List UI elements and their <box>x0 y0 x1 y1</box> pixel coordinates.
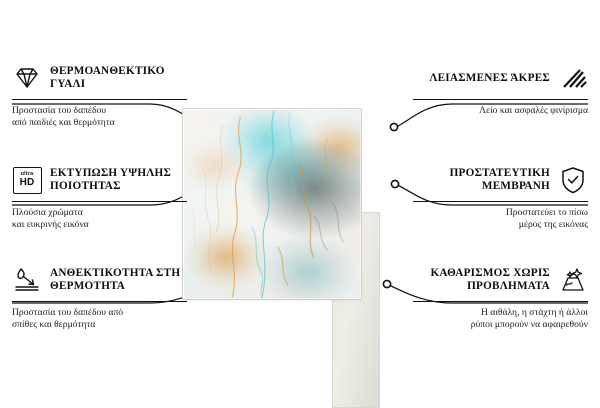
feature-infographic: ΘΕΡΜΟΑΝΘΕΚΤΙΚΟ ΓΥΑΛΙ Προστασία του δαπέδ… <box>0 0 600 400</box>
feature-description: Προστατεύει το πίσωμέρος της εικόνας <box>413 207 588 230</box>
feature-description: Πλούσια χρώματακαι ευκρινής εικόνα <box>12 207 187 230</box>
feature-header: ΑΝΘΕΚΤΙΚΟΤΗΤΑ ΣΤΗ ΘΕΡΜΟΤΗΤΑ <box>12 264 187 296</box>
ultra-hd-badge-bottom: HD <box>20 178 35 188</box>
glass-panel <box>182 108 362 300</box>
marble-veins <box>183 109 361 299</box>
diamond-icon <box>12 63 42 93</box>
sparkle-cloth-icon <box>558 265 588 295</box>
product-image <box>182 108 362 300</box>
connector-dot-right-2 <box>391 180 398 187</box>
connector-dot-right-1 <box>390 123 397 130</box>
feature-description: Η αιθάλη, η στάχτη ή άλλοιρύποι μπορούν … <box>413 307 588 330</box>
feature-divider <box>12 99 187 100</box>
feature-title: ΕΚΤΥΠΩΣΗ ΥΨΗΛΗΣ ΠΟΙΟΤΗΤΑΣ <box>50 167 187 192</box>
feature-description: Προστασία του δαπέδου απόσπίθες και θερμ… <box>12 307 187 330</box>
feature-title: ΑΝΘΕΚΤΙΚΟΤΗΤΑ ΣΤΗ ΘΕΡΜΟΤΗΤΑ <box>50 267 187 292</box>
feature-header: ΛΕΙΑΣΜΕΝΕΣ ΆΚΡΕΣ <box>413 62 588 94</box>
feature-title: ΛΕΙΑΣΜΕΝΕΣ ΆΚΡΕΣ <box>429 72 550 85</box>
feature-polished-edges: ΛΕΙΑΣΜΕΝΕΣ ΆΚΡΕΣ Λείο και ασφαλές φινίρι… <box>413 62 588 117</box>
feature-divider <box>413 301 588 302</box>
feature-divider <box>12 301 187 302</box>
feature-title: ΘΕΡΜΟΑΝΘΕΚΤΙΚΟ ΓΥΑΛΙ <box>50 65 187 90</box>
feature-protective-film: ΠΡΟΣΤΑΤΕΥΤΙΚΗ ΜΕΜΒΡΑΝΗ Προστατεύει το πί… <box>413 164 588 231</box>
feature-header: ΠΡΟΣΤΑΤΕΥΤΙΚΗ ΜΕΜΒΡΑΝΗ <box>413 164 588 196</box>
ultra-hd-badge-icon: ultra HD <box>12 165 42 195</box>
feature-easy-cleaning: ΚΑΘΑΡΙΣΜΟΣ ΧΩΡΙΣ ΠΡΟΒΛΗΜΑΤΑ Η αιθάλη, η … <box>413 264 588 331</box>
feature-description: Προστασία του δαπέδουαπό παιδιές και θερ… <box>12 105 187 128</box>
shield-check-icon <box>558 165 588 195</box>
feature-heat-durability: ΑΝΘΕΚΤΙΚΟΤΗΤΑ ΣΤΗ ΘΕΡΜΟΤΗΤΑ Προστασία το… <box>12 264 187 331</box>
feature-header: ΘΕΡΜΟΑΝΘΕΚΤΙΚΟ ΓΥΑΛΙ <box>12 62 187 94</box>
feature-header: ultra HD ΕΚΤΥΠΩΣΗ ΥΨΗΛΗΣ ΠΟΙΟΤΗΤΑΣ <box>12 164 187 196</box>
feature-header: ΚΑΘΑΡΙΣΜΟΣ ΧΩΡΙΣ ΠΡΟΒΛΗΜΑΤΑ <box>413 264 588 296</box>
polished-edges-icon <box>558 63 588 93</box>
feature-divider <box>12 201 187 202</box>
feature-title: ΠΡΟΣΤΑΤΕΥΤΙΚΗ ΜΕΜΒΡΑΝΗ <box>413 167 550 192</box>
feature-heat-resistant-glass: ΘΕΡΜΟΑΝΘΕΚΤΙΚΟ ΓΥΑΛΙ Προστασία του δαπέδ… <box>12 62 187 129</box>
feature-title: ΚΑΘΑΡΙΣΜΟΣ ΧΩΡΙΣ ΠΡΟΒΛΗΜΑΤΑ <box>413 267 550 292</box>
feature-divider <box>413 99 588 100</box>
heat-resistance-icon <box>12 265 42 295</box>
feature-high-quality-print: ultra HD ΕΚΤΥΠΩΣΗ ΥΨΗΛΗΣ ΠΟΙΟΤΗΤΑΣ Πλούσ… <box>12 164 187 231</box>
feature-divider <box>413 201 588 202</box>
feature-description: Λείο και ασφαλές φινίρισμα <box>413 105 588 117</box>
connector-dot-right-3 <box>383 280 390 287</box>
